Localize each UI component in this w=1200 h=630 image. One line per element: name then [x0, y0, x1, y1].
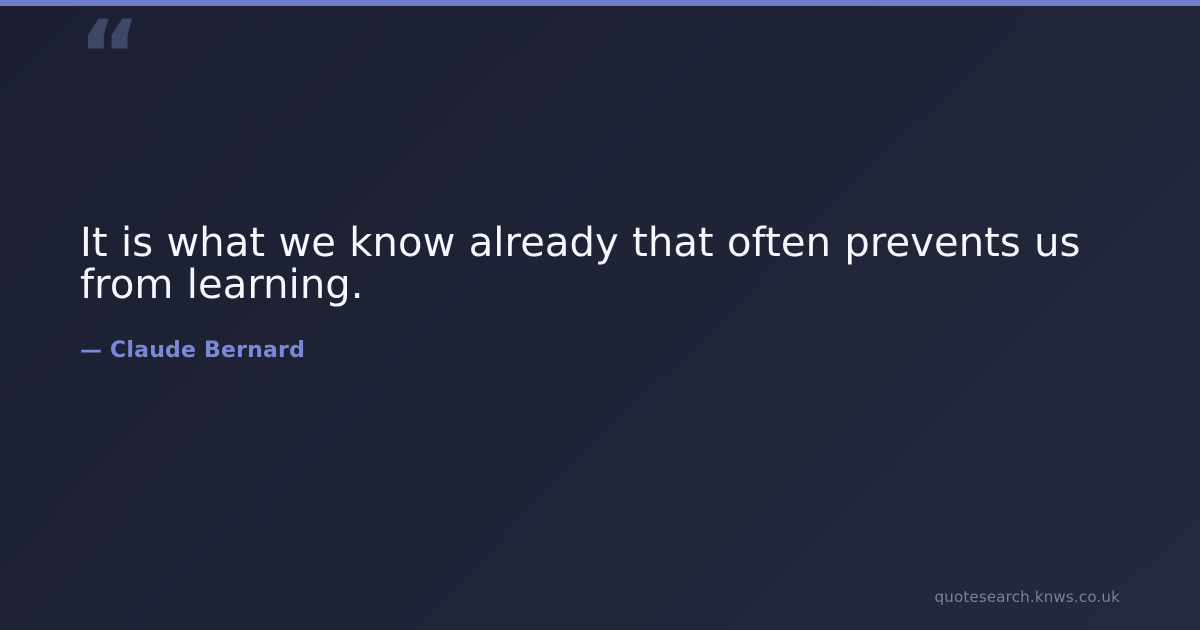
site-watermark: quotesearch.knws.co.uk — [935, 588, 1120, 606]
quote-author: — Claude Bernard — [80, 306, 1120, 363]
quote-text: It is what we know already that often pr… — [80, 222, 1120, 306]
top-accent-bar — [0, 0, 1200, 6]
quote-card: “ It is what we know already that often … — [0, 0, 1200, 630]
quote-content: It is what we know already that often pr… — [80, 222, 1120, 363]
open-quote-icon: “ — [78, 8, 139, 104]
